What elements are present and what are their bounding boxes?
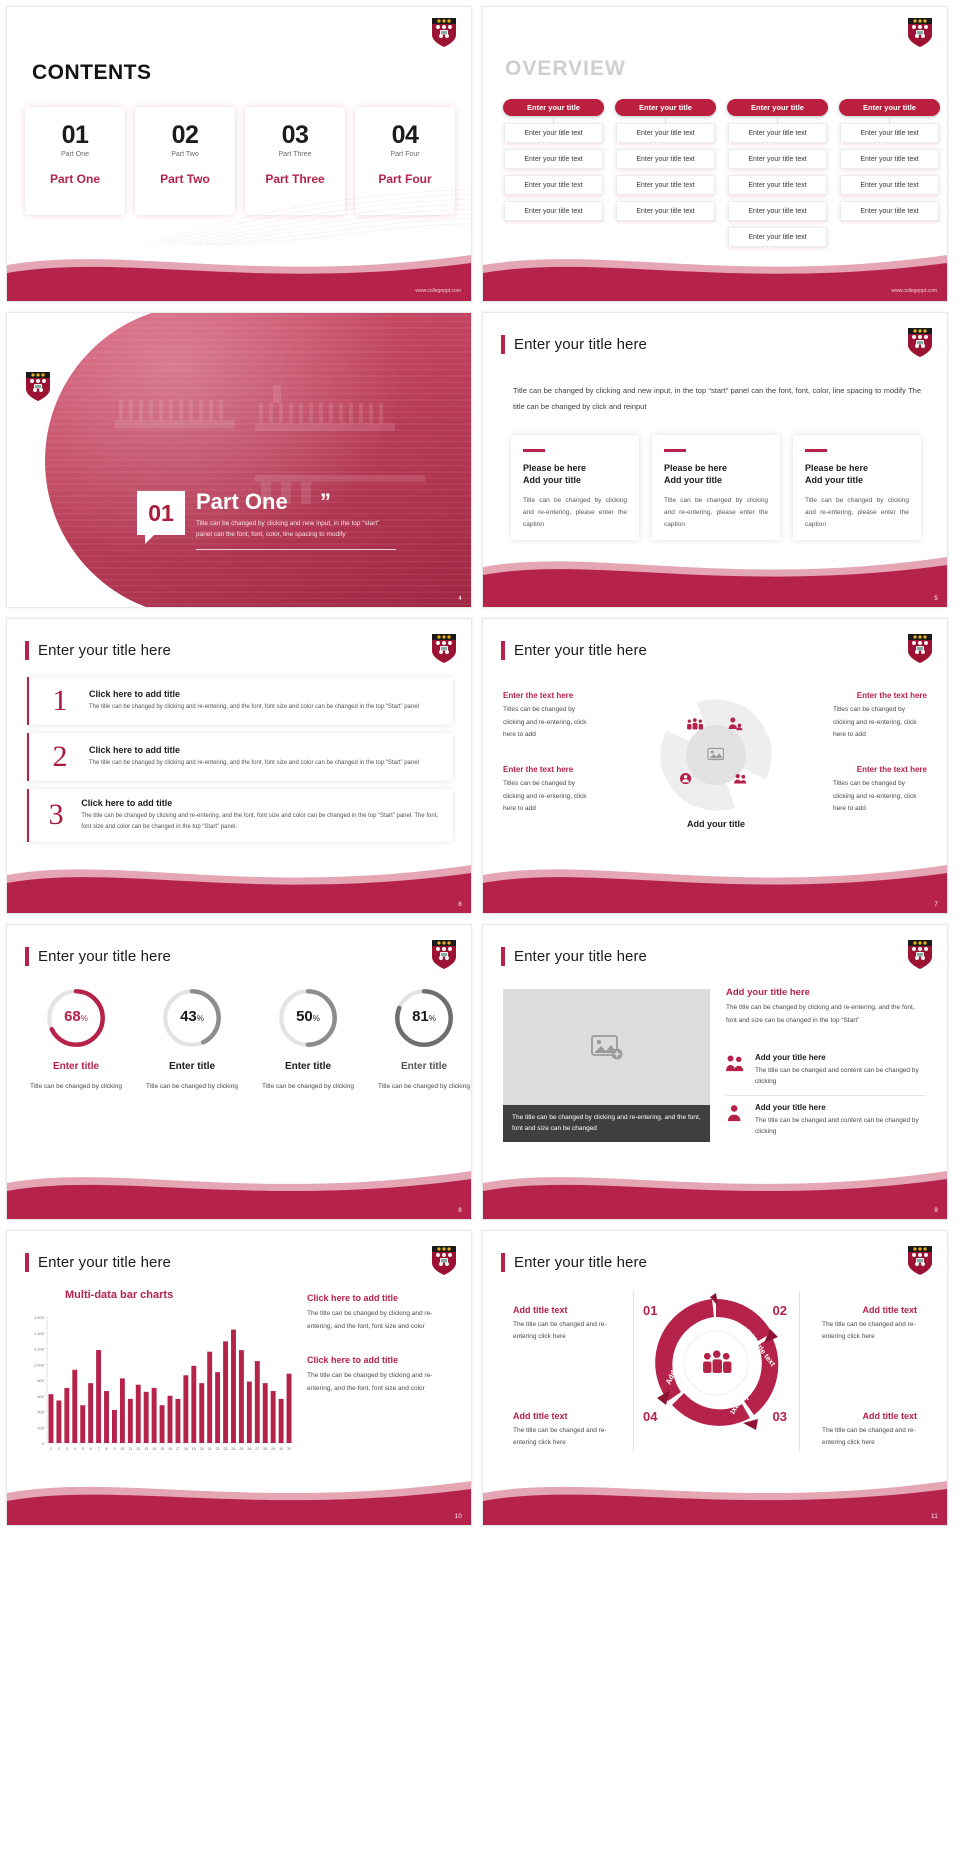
shield-logo-icon xyxy=(907,939,933,970)
title-accent-bar xyxy=(25,947,29,966)
svg-text:13: 13 xyxy=(144,1447,148,1451)
card-part-label: Part Four xyxy=(378,172,431,186)
page-number: 7 xyxy=(934,902,938,908)
lead-paragraph: Title can be changed by clicking and new… xyxy=(513,383,921,415)
slide-numbered-list[interactable]: Enter your title here 1 Click here to ad… xyxy=(6,618,472,914)
page-title: Enter your title here xyxy=(501,1253,647,1272)
slide-grid: CONTENTS 01 Part One Part One 02 Part Tw… xyxy=(0,0,960,1532)
svg-text:6: 6 xyxy=(90,1447,92,1451)
shield-logo-icon xyxy=(431,939,457,970)
title-text: Enter your title here xyxy=(514,642,647,659)
title-text: Enter your title here xyxy=(38,948,171,965)
overview-item[interactable]: Enter your title text xyxy=(728,123,827,143)
people-icon xyxy=(726,1053,746,1073)
row-description: The title can be changed by clicking and… xyxy=(81,811,443,833)
slide-cycle-diagram[interactable]: Enter your title here 01 02 03 04 Add ti… xyxy=(482,1230,948,1526)
page-title: Enter your title here xyxy=(501,641,647,660)
row-title: Click here to add title xyxy=(81,798,443,808)
svg-text:5: 5 xyxy=(82,1447,84,1451)
side-heading: Click here to add title xyxy=(307,1293,457,1303)
slide-image-and-list[interactable]: Enter your title here The title can be c… xyxy=(482,924,948,1220)
svg-text:3: 3 xyxy=(66,1447,68,1451)
card-body: Title can be changed by clicking and re-… xyxy=(664,495,768,531)
card-part-label: Part Two xyxy=(160,172,210,186)
svg-text:800: 800 xyxy=(37,1378,44,1383)
kpi-number: 68 xyxy=(64,1008,81,1025)
list-item[interactable]: 1 Click here to add title The title can … xyxy=(27,677,453,725)
svg-text:31: 31 xyxy=(287,1447,291,1451)
shield-logo-icon xyxy=(907,633,933,664)
svg-text:14: 14 xyxy=(152,1447,156,1451)
kpi-unit: % xyxy=(429,1014,436,1023)
svg-text:4: 4 xyxy=(74,1447,76,1451)
segment-label: Enter the text here xyxy=(503,691,573,700)
svg-text:18: 18 xyxy=(184,1447,188,1451)
row-description: The title can be changed and content can… xyxy=(755,1065,926,1087)
card-list: Please be here Add your title Title can … xyxy=(511,435,921,540)
kpi-item[interactable]: 43 % Enter title Title can be changed by… xyxy=(137,987,247,1092)
title-accent-bar xyxy=(501,335,505,354)
slide-bar-chart[interactable]: Enter your title here Multi-data bar cha… xyxy=(6,1230,472,1526)
connector-line xyxy=(665,116,666,123)
svg-text:16: 16 xyxy=(168,1447,172,1451)
kpi-text: Title can be changed by clicking xyxy=(262,1081,354,1092)
image-placeholder[interactable] xyxy=(503,989,710,1105)
overview-item[interactable]: Enter your title text xyxy=(728,201,827,221)
svg-text:400: 400 xyxy=(37,1410,44,1415)
divider xyxy=(633,1291,634,1451)
page-title: CONTENTS xyxy=(32,61,152,85)
kpi-unit: % xyxy=(81,1014,88,1023)
overview-item[interactable]: Enter your title text xyxy=(616,123,715,143)
overview-item[interactable]: Enter your title text xyxy=(504,123,603,143)
card-heading-line1: Please be here xyxy=(805,463,868,473)
divider-rule xyxy=(196,549,396,550)
info-card[interactable]: Please be here Add your title Title can … xyxy=(511,435,639,540)
card-heading: Please be here Add your title xyxy=(805,462,909,486)
card-number: 01 xyxy=(62,123,89,148)
row-title: Click here to add title xyxy=(89,745,419,755)
chart-side-notes: Click here to add title The title can be… xyxy=(307,1293,457,1396)
svg-text:17: 17 xyxy=(176,1447,180,1451)
diagram-center-label: Add your title xyxy=(656,819,776,829)
kpi-list: 68 % Enter title Title can be changed by… xyxy=(21,987,472,1092)
svg-text:10: 10 xyxy=(120,1447,124,1451)
card-part-label: Part Three xyxy=(265,172,324,186)
page-number: 4 xyxy=(458,596,462,602)
overview-item[interactable]: Enter your title text xyxy=(840,201,939,221)
shield-logo-icon xyxy=(25,371,51,402)
overview-item[interactable]: Enter your title text xyxy=(616,201,715,221)
title-text: Enter your title here xyxy=(514,948,647,965)
watermark-url: www.collegeppt.com xyxy=(891,288,937,294)
card-accent-dash xyxy=(664,449,686,452)
kpi-text: Title can be changed by clicking xyxy=(378,1081,470,1092)
card-heading: Please be here Add your title xyxy=(523,462,627,486)
quadrant-title: Add title text xyxy=(513,1411,568,1421)
svg-text:23: 23 xyxy=(224,1447,228,1451)
overview-column: Enter your title Enter your title text E… xyxy=(727,99,828,253)
column-title-pill[interactable]: Enter your title xyxy=(839,99,940,116)
card-number: 02 xyxy=(172,123,199,148)
card-heading-line1: Please be here xyxy=(664,463,727,473)
overview-item[interactable]: Enter your title text xyxy=(728,175,827,195)
side-paragraph: The title can be changed by clicking and… xyxy=(307,1370,457,1395)
kpi-item[interactable]: 68 % Enter title Title can be changed by… xyxy=(21,987,131,1092)
title-accent-bar xyxy=(501,947,505,966)
overview-item[interactable]: Enter your title text xyxy=(840,175,939,195)
svg-text:600: 600 xyxy=(37,1394,44,1399)
donut-chart: 50 % xyxy=(277,987,339,1049)
kpi-number: 43 xyxy=(180,1008,197,1025)
row-number: 3 xyxy=(47,800,65,830)
svg-text:200: 200 xyxy=(37,1425,44,1430)
page-number: 11 xyxy=(931,1514,938,1520)
shield-logo-icon xyxy=(907,1245,933,1276)
kpi-value: 68 % xyxy=(45,987,107,1049)
svg-text:28: 28 xyxy=(263,1447,267,1451)
quadrant-text: The title can be changed and re-entering… xyxy=(513,1319,608,1342)
row-title: Click here to add title xyxy=(89,689,419,699)
svg-text:24: 24 xyxy=(231,1447,235,1451)
title-accent-bar xyxy=(501,1253,505,1272)
segment-text: Titles can be changed by clicking and re… xyxy=(833,704,927,742)
svg-text:15: 15 xyxy=(160,1447,164,1451)
title-accent-bar xyxy=(25,641,29,660)
card-heading-line2: Add your title xyxy=(664,475,722,485)
svg-text:1,400: 1,400 xyxy=(34,1331,45,1336)
card-subtitle: Part Three xyxy=(279,151,312,158)
kpi-unit: % xyxy=(197,1014,204,1023)
hero-photo xyxy=(45,312,472,608)
overview-item[interactable]: Enter your title text xyxy=(840,149,939,169)
title-text: Enter your title here xyxy=(514,336,647,353)
slide-percent-donuts[interactable]: Enter your title here 68 % Enter title T… xyxy=(6,924,472,1220)
right-heading: Add your title here xyxy=(726,987,810,998)
card-accent-dash xyxy=(805,449,827,452)
shield-logo-icon xyxy=(907,327,933,358)
svg-text:7: 7 xyxy=(98,1447,100,1451)
bottom-wave-decoration xyxy=(483,1157,947,1219)
page-number: 9 xyxy=(934,1208,938,1214)
side-paragraph: The title can be changed by clicking and… xyxy=(307,1308,457,1333)
card-heading: Please be here Add your title xyxy=(664,462,768,486)
kpi-unit: % xyxy=(313,1014,320,1023)
page-title: Enter your title here xyxy=(25,947,171,966)
row-number: 2 xyxy=(47,742,73,772)
svg-text:1,600: 1,600 xyxy=(34,1315,45,1320)
page-title: Enter your title here xyxy=(501,947,647,966)
connector-line xyxy=(777,116,778,123)
bar-chart: 02004006008001,0001,2001,4001,6001234567… xyxy=(21,1311,297,1461)
kpi-text: Title can be changed by clicking xyxy=(146,1081,238,1092)
bottom-wave-decoration xyxy=(7,239,471,301)
svg-text:2: 2 xyxy=(58,1447,60,1451)
page-number: 8 xyxy=(458,1208,462,1214)
overview-column: Enter your title Enter your title text E… xyxy=(615,99,716,253)
svg-text:1,000: 1,000 xyxy=(34,1362,45,1367)
shield-logo-icon xyxy=(431,1245,457,1276)
slide-three-cards[interactable]: Enter your title here Title can be chang… xyxy=(482,312,948,608)
bottom-wave-decoration xyxy=(7,1463,471,1525)
info-card[interactable]: Please be here Add your title Title can … xyxy=(652,435,780,540)
card-subtitle: Part One xyxy=(61,151,89,158)
person-icon xyxy=(726,1103,746,1123)
list-item[interactable]: 2 Click here to add title The title can … xyxy=(27,733,453,781)
kpi-title: Enter title xyxy=(285,1061,331,1072)
row-description: The title can be changed and content can… xyxy=(755,1115,926,1137)
svg-text:25: 25 xyxy=(239,1447,243,1451)
card-heading-line2: Add your title xyxy=(523,475,581,485)
card-part-label: Part One xyxy=(50,172,100,186)
title-accent-bar xyxy=(501,641,505,660)
kpi-text: Title can be changed by clicking xyxy=(30,1081,122,1092)
donut-chart: 68 % xyxy=(45,987,107,1049)
quadrant-text: The title can be changed and re-entering… xyxy=(513,1425,608,1448)
svg-text:8: 8 xyxy=(106,1447,108,1451)
svg-text:22: 22 xyxy=(216,1447,220,1451)
overview-item[interactable]: Enter your title text xyxy=(504,149,603,169)
side-heading: Click here to add title xyxy=(307,1355,457,1365)
bottom-wave-decoration xyxy=(483,545,947,607)
svg-text:29: 29 xyxy=(271,1447,275,1451)
section-title: Part One xyxy=(196,491,396,513)
card-body: Title can be changed by clicking and re-… xyxy=(523,495,627,531)
overview-item[interactable]: Enter your title text xyxy=(840,123,939,143)
row-number: 1 xyxy=(47,686,73,716)
svg-text:20: 20 xyxy=(200,1447,204,1451)
kpi-title: Enter title xyxy=(169,1061,215,1072)
page-number: 5 xyxy=(934,596,938,602)
quadrant-title: Add title text xyxy=(513,1305,568,1315)
svg-text:26: 26 xyxy=(247,1447,251,1451)
kpi-value: 50 % xyxy=(277,987,339,1049)
shield-logo-icon xyxy=(431,17,457,48)
section-heading-block: 01 Part One Title can be changed by clic… xyxy=(137,491,396,550)
kpi-title: Enter title xyxy=(53,1061,99,1072)
column-title-pill[interactable]: Enter your title xyxy=(503,99,604,116)
svg-text:30: 30 xyxy=(279,1447,283,1451)
svg-text:1: 1 xyxy=(50,1447,52,1451)
image-caption: The title can be changed by clicking and… xyxy=(503,1105,710,1142)
section-description: Title can be changed by clicking and new… xyxy=(196,519,396,540)
kpi-number: 81 xyxy=(412,1008,429,1025)
column-title-pill[interactable]: Enter your title xyxy=(615,99,716,116)
page-number: 6 xyxy=(458,902,462,908)
card-subtitle: Part Four xyxy=(390,151,419,158)
overview-item[interactable]: Enter your title text xyxy=(616,175,715,195)
segment-label: Enter the text here xyxy=(503,765,573,774)
quadrant-title: Add title text xyxy=(862,1305,917,1315)
kpi-item[interactable]: 50 % Enter title Title can be changed by… xyxy=(253,987,363,1092)
svg-text:21: 21 xyxy=(208,1447,212,1451)
page-title: Enter your title here xyxy=(501,335,647,354)
title-text: Enter your title here xyxy=(514,1254,647,1271)
segment-text: Titles can be changed by clicking and re… xyxy=(503,704,597,742)
list-item[interactable]: Add your title here The title can be cha… xyxy=(726,1103,926,1145)
title-text: Enter your title here xyxy=(38,1254,171,1271)
shield-logo-icon xyxy=(431,633,457,664)
title-accent-bar xyxy=(25,1253,29,1272)
card-number: 04 xyxy=(392,123,419,148)
numbered-row-list: 1 Click here to add title The title can … xyxy=(27,677,453,850)
segment-text: Titles can be changed by clicking and re… xyxy=(833,778,927,816)
bottom-wave-decoration xyxy=(7,1157,471,1219)
kpi-value: 81 % xyxy=(393,987,455,1049)
svg-text:9: 9 xyxy=(113,1447,115,1451)
card-heading-line1: Please be here xyxy=(523,463,586,473)
image-placeholder-icon xyxy=(591,1033,623,1061)
list-item[interactable]: 3 Click here to add title The title can … xyxy=(27,789,453,842)
right-paragraph: The title can be changed by clicking and… xyxy=(726,1001,922,1027)
overview-item[interactable]: Enter your title text xyxy=(616,149,715,169)
card-accent-dash xyxy=(523,449,545,452)
slide-overview[interactable]: OVERVIEW Enter your title Enter your tit… xyxy=(482,6,948,302)
overview-columns: Enter your title Enter your title text E… xyxy=(503,99,940,253)
svg-text:27: 27 xyxy=(255,1447,259,1451)
cycle-diagram[interactable]: Add title text Add title text Add title … xyxy=(646,1293,786,1433)
card-body: Title can be changed by clicking and re-… xyxy=(805,495,909,531)
row-title: Add your title here xyxy=(755,1053,926,1062)
row-description: The title can be changed by clicking and… xyxy=(89,758,419,769)
overview-item[interactable]: Enter your title text xyxy=(504,175,603,195)
page-number: 10 xyxy=(455,1514,462,1520)
svg-text:19: 19 xyxy=(192,1447,196,1451)
quadrant-title: Add title text xyxy=(862,1411,917,1421)
radial-diagram[interactable] xyxy=(656,695,776,815)
page-title: Enter your title here xyxy=(25,641,171,660)
watermark-url: www.collegeppt.com xyxy=(415,288,461,294)
bottom-wave-decoration xyxy=(483,239,947,301)
bottom-wave-decoration xyxy=(483,1463,947,1525)
quadrant-text: The title can be changed and re-entering… xyxy=(822,1425,917,1448)
segment-label: Enter the text here xyxy=(857,765,927,774)
kpi-number: 50 xyxy=(296,1008,313,1025)
svg-text:0: 0 xyxy=(42,1441,45,1446)
quote-mark-icon: ” xyxy=(320,489,331,515)
svg-text:12: 12 xyxy=(136,1447,140,1451)
title-text: Enter your title here xyxy=(38,642,171,659)
slide-section-divider[interactable]: 01 Part One Title can be changed by clic… xyxy=(6,312,472,608)
donut-chart: 81 % xyxy=(393,987,455,1049)
overview-item[interactable]: Enter your title text xyxy=(728,149,827,169)
card-heading-line2: Add your title xyxy=(805,475,863,485)
kpi-item[interactable]: 81 % Enter title Title can be changed by… xyxy=(369,987,472,1092)
overview-column: Enter your title Enter your title text E… xyxy=(839,99,940,253)
list-item[interactable]: Add your title here The title can be cha… xyxy=(726,1053,926,1096)
page-title: Enter your title here xyxy=(25,1253,171,1272)
donut-chart: 43 % xyxy=(161,987,223,1049)
section-number-badge: 01 xyxy=(137,491,185,535)
connector-line xyxy=(553,116,554,123)
page-title: OVERVIEW xyxy=(505,57,626,81)
column-title-pill[interactable]: Enter your title xyxy=(727,99,828,116)
svg-text:1,200: 1,200 xyxy=(34,1347,45,1352)
overview-column: Enter your title Enter your title text E… xyxy=(503,99,604,253)
connector-line xyxy=(889,116,890,123)
card-subtitle: Part Two xyxy=(171,151,199,158)
segment-label: Enter the text here xyxy=(857,691,927,700)
slide-radial-segments[interactable]: Enter your title here Enter the text her… xyxy=(482,618,948,914)
svg-text:11: 11 xyxy=(128,1447,132,1451)
slide-contents[interactable]: CONTENTS 01 Part One Part One 02 Part Tw… xyxy=(6,6,472,302)
quadrant-text: The title can be changed and re-entering… xyxy=(822,1319,917,1342)
kpi-value: 43 % xyxy=(161,987,223,1049)
divider xyxy=(799,1291,800,1451)
kpi-title: Enter title xyxy=(401,1061,447,1072)
row-description: The title can be changed by clicking and… xyxy=(89,702,419,713)
card-number: 03 xyxy=(282,123,309,148)
bottom-wave-decoration xyxy=(483,851,947,913)
segment-text: Titles can be changed by clicking and re… xyxy=(503,778,597,816)
decorative-lines xyxy=(7,185,471,245)
bottom-wave-decoration xyxy=(7,851,471,913)
overview-item[interactable]: Enter your title text xyxy=(504,201,603,221)
chart-title: Multi-data bar charts xyxy=(65,1289,173,1301)
row-title: Add your title here xyxy=(755,1103,926,1112)
shield-logo-icon xyxy=(907,17,933,48)
info-card[interactable]: Please be here Add your title Title can … xyxy=(793,435,921,540)
